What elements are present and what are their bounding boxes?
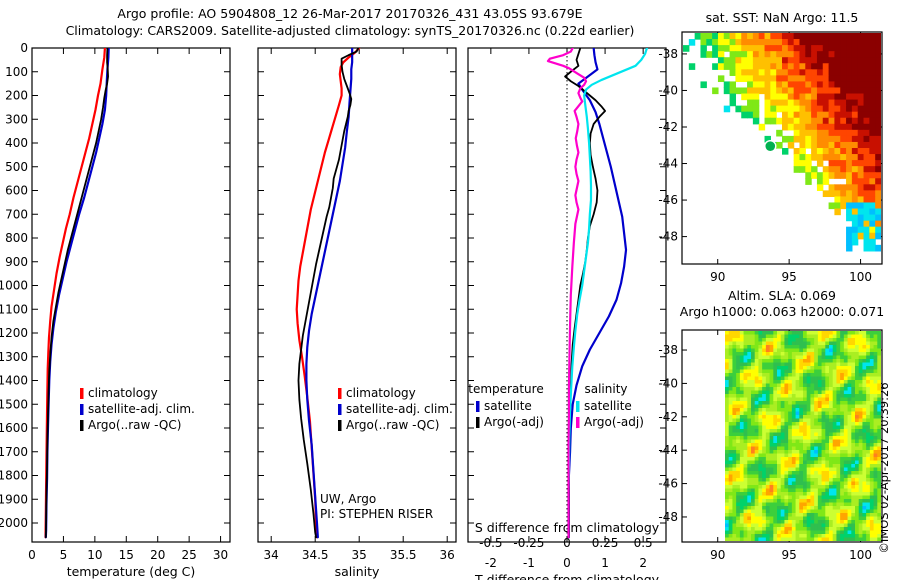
salinity-profile-series: [298, 48, 358, 537]
sla-cell: [836, 373, 840, 377]
sla-cell: [762, 506, 766, 510]
sla-cell: [859, 475, 863, 479]
sla-cell: [829, 349, 833, 353]
sla-cell: [877, 370, 881, 374]
sla-cell: [781, 433, 785, 437]
sla-cell: [799, 468, 803, 472]
sst-cell: [840, 124, 846, 131]
sla-cell: [766, 436, 770, 440]
sla-cell: [848, 331, 852, 335]
sla-cell: [788, 531, 792, 535]
sla-cell: [751, 524, 755, 528]
sla-cell: [796, 475, 800, 479]
sla-cell: [848, 531, 852, 535]
sla-cell: [822, 492, 826, 496]
sla-cell: [773, 377, 777, 381]
sst-cell: [782, 81, 788, 88]
sla-cell: [822, 394, 826, 398]
sla-cell: [777, 464, 781, 468]
sla-cell: [729, 356, 733, 360]
sst-cell: [852, 184, 858, 191]
sla-cell: [766, 408, 770, 412]
sla-cell: [744, 475, 748, 479]
sla-cell: [777, 429, 781, 433]
sst-cell: [852, 209, 858, 216]
sla-cell: [814, 366, 818, 370]
sla-cell: [851, 391, 855, 395]
sla-cell: [870, 503, 874, 507]
sla-cell: [762, 534, 766, 538]
sla-cell: [859, 401, 863, 405]
sla-cell: [788, 464, 792, 468]
sla-cell: [784, 447, 788, 451]
sst-cell: [875, 39, 881, 46]
sla-cell: [732, 496, 736, 500]
sla-cell: [822, 380, 826, 384]
sla-cell: [766, 506, 770, 510]
sst-cell: [834, 69, 840, 76]
sla-cell: [844, 524, 848, 528]
sst-cell: [875, 130, 881, 137]
sla-cell: [781, 342, 785, 346]
sst-cell: [811, 94, 817, 101]
sla-cell: [736, 394, 740, 398]
xtick-label-34: 34: [264, 548, 279, 562]
sla-cell: [770, 513, 774, 517]
sst-cell: [864, 233, 870, 240]
sst-cell: [852, 215, 858, 222]
sla-cell: [736, 366, 740, 370]
sst-cell: [846, 148, 852, 155]
sla-cell: [814, 380, 818, 384]
sla-cell: [818, 454, 822, 458]
sst-cell: [869, 112, 875, 119]
sla-cell: [866, 468, 870, 472]
sla-cell: [877, 345, 881, 349]
sla-cell: [836, 377, 840, 381]
sla-cell: [848, 356, 852, 360]
sla-cell: [855, 401, 859, 405]
sla-cell: [784, 419, 788, 423]
sla-cell: [777, 485, 781, 489]
sst-cell: [864, 221, 870, 228]
sla-cell: [740, 433, 744, 437]
sla-cell: [755, 510, 759, 514]
sla-cell: [825, 461, 829, 465]
sla-cell: [862, 342, 866, 346]
sla-cell: [874, 457, 878, 461]
sla-cell: [781, 366, 785, 370]
sst-cell: [864, 75, 870, 82]
sla-cell: [766, 527, 770, 531]
sla-cell: [755, 503, 759, 507]
sla-cell: [725, 359, 729, 363]
sst-cell: [794, 112, 800, 119]
sla-cell: [729, 377, 733, 381]
sla-cell: [758, 527, 762, 531]
sla-cell: [859, 405, 863, 409]
sst-cell: [776, 118, 782, 125]
sla-cell: [829, 471, 833, 475]
sla-cell: [773, 489, 777, 493]
sla-cell: [836, 527, 840, 531]
map-xtick-100: 100: [849, 270, 872, 284]
sla-cell: [781, 513, 785, 517]
sla-cell: [770, 506, 774, 510]
sla-cell: [840, 412, 844, 416]
sst-cell: [805, 75, 811, 82]
sla-cell: [777, 415, 781, 419]
sst-cell: [846, 81, 852, 88]
sla-cell: [844, 482, 848, 486]
sst-cell: [765, 39, 771, 46]
sla-cell: [870, 359, 874, 363]
sst-cell: [846, 239, 852, 246]
sla-cell: [732, 433, 736, 437]
sst-cell: [875, 33, 881, 40]
sla-cell: [796, 401, 800, 405]
sla-cell: [859, 461, 863, 465]
sla-cell: [762, 398, 766, 402]
sla-cell: [725, 506, 729, 510]
sst-cell: [735, 106, 741, 113]
sla-cell: [829, 359, 833, 363]
sla-cell: [729, 503, 733, 507]
sla-cell: [877, 447, 881, 451]
temperature-profile-series: [46, 48, 109, 537]
sst-cell: [747, 75, 753, 82]
sla-cell: [740, 415, 744, 419]
sla-cell: [807, 527, 811, 531]
sla-cell: [773, 422, 777, 426]
sla-cell: [770, 468, 774, 472]
sla-cell: [747, 387, 751, 391]
sla-cell: [725, 499, 729, 503]
sla-cell: [803, 478, 807, 482]
sla-map-subtitle: Argo h1000: 0.063 h2000: 0.071: [680, 304, 884, 319]
sla-cell: [859, 338, 863, 342]
sla-cell: [758, 335, 762, 339]
sla-cell: [840, 485, 844, 489]
sst-cell: [864, 209, 870, 216]
sla-cell: [836, 447, 840, 451]
sla-cell: [755, 457, 759, 461]
sla-cell: [732, 482, 736, 486]
legend-swatch: [476, 401, 480, 412]
sla-cell: [770, 524, 774, 528]
sst-cell: [735, 57, 741, 64]
sla-cell: [807, 447, 811, 451]
sla-cell: [859, 503, 863, 507]
sla-cell: [870, 387, 874, 391]
sst-cell: [834, 63, 840, 70]
sst-cell: [858, 81, 864, 88]
sst-cell: [869, 124, 875, 131]
sla-cell: [814, 429, 818, 433]
sla-cell: [777, 457, 781, 461]
sla-cell: [829, 447, 833, 451]
sla-cell: [744, 384, 748, 388]
sla-cell: [877, 520, 881, 524]
sst-cell: [829, 118, 835, 125]
sla-cell: [818, 356, 822, 360]
sla-cell: [796, 415, 800, 419]
sst-cell: [776, 45, 782, 52]
sst-cell: [834, 94, 840, 101]
sst-cell: [805, 166, 811, 173]
map-ytick--46: -46: [658, 193, 678, 207]
sla-cell: [855, 391, 859, 395]
sla-cell: [781, 499, 785, 503]
sla-cell: [729, 506, 733, 510]
sla-cell: [803, 482, 807, 486]
sst-cell: [834, 57, 840, 64]
sla-cell: [848, 443, 852, 447]
sla-cell: [740, 538, 744, 542]
salinity-profile-series: [306, 48, 352, 537]
sst-cell: [794, 106, 800, 113]
sla-cell: [874, 352, 878, 356]
sla-cell: [836, 468, 840, 472]
sla-cell: [851, 405, 855, 409]
sla-cell: [851, 499, 855, 503]
sla-cell: [762, 338, 766, 342]
sla-cell: [870, 471, 874, 475]
sla-cell: [870, 478, 874, 482]
sst-cell: [770, 100, 776, 107]
sla-cell: [788, 359, 792, 363]
sla-cell: [792, 492, 796, 496]
sst-cell: [799, 130, 805, 137]
sla-cell: [874, 485, 878, 489]
sla-cell: [758, 342, 762, 346]
sla-cell: [725, 429, 729, 433]
sla-cell: [725, 440, 729, 444]
sst-cell: [834, 142, 840, 149]
ytick-label-1700: 1700: [0, 445, 28, 459]
sla-cell: [747, 440, 751, 444]
sla-cell: [814, 461, 818, 465]
sla-cell: [844, 450, 848, 454]
sla-cell: [836, 510, 840, 514]
sla-cell: [773, 478, 777, 482]
sla-cell: [874, 510, 878, 514]
sla-cell: [829, 524, 833, 528]
sla-cell: [822, 506, 826, 510]
sla-cell: [729, 527, 733, 531]
sla-cell: [736, 506, 740, 510]
sla-cell: [807, 440, 811, 444]
sla-cell: [773, 471, 777, 475]
sla-cell: [803, 471, 807, 475]
sla-cell: [744, 405, 748, 409]
sla-cell: [792, 447, 796, 451]
sla-cell: [755, 531, 759, 535]
sla-cell: [818, 359, 822, 363]
sla-cell: [732, 478, 736, 482]
sla-cell: [762, 492, 766, 496]
sla-cell: [818, 415, 822, 419]
sst-cell: [799, 33, 805, 40]
sla-cell: [829, 492, 833, 496]
sla-cell: [770, 475, 774, 479]
sst-cell: [864, 94, 870, 101]
sla-cell: [874, 531, 878, 535]
sla-cell: [862, 384, 866, 388]
sla-cell: [818, 520, 822, 524]
sla-cell: [773, 499, 777, 503]
sla-cell: [803, 380, 807, 384]
sla-cell: [807, 426, 811, 430]
sla-cell: [777, 384, 781, 388]
sla-cell: [836, 433, 840, 437]
sla-cell: [825, 464, 829, 468]
sst-cell: [741, 45, 747, 52]
sla-cell: [796, 387, 800, 391]
sla-cell: [799, 345, 803, 349]
sla-cell: [862, 352, 866, 356]
sla-cell: [840, 471, 844, 475]
sla-cell: [829, 517, 833, 521]
sla-cell: [840, 377, 844, 381]
sst-cell: [788, 142, 794, 149]
sla-cell: [866, 538, 870, 542]
sla-cell: [796, 457, 800, 461]
sla-cell: [855, 419, 859, 423]
sla-cell: [848, 370, 852, 374]
sla-cell: [744, 485, 748, 489]
sla-cell: [725, 426, 729, 430]
sla-cell: [877, 457, 881, 461]
sst-cell: [823, 33, 829, 40]
sla-cell: [799, 454, 803, 458]
sla-cell: [836, 485, 840, 489]
sla-cell: [877, 506, 881, 510]
sla-cell: [859, 384, 863, 388]
sla-cell: [729, 520, 733, 524]
sla-cell: [781, 534, 785, 538]
sla-cell: [855, 499, 859, 503]
sst-cell: [869, 160, 875, 167]
sla-cell: [870, 415, 874, 419]
sla-cell: [729, 415, 733, 419]
sla-cell: [844, 489, 848, 493]
sla-cell: [848, 454, 852, 458]
sst-cell: [799, 100, 805, 107]
sla-cell: [725, 478, 729, 482]
sla-cell: [773, 387, 777, 391]
sla-cell: [784, 380, 788, 384]
sla-cell: [781, 443, 785, 447]
sla-cell: [758, 436, 762, 440]
sla-cell: [799, 342, 803, 346]
sla-cell: [866, 401, 870, 405]
sla-cell: [751, 520, 755, 524]
sla-cell: [729, 471, 733, 475]
sst-cell: [782, 124, 788, 131]
sla-cell: [874, 377, 878, 381]
sla-cell: [870, 331, 874, 335]
sla-cell: [836, 471, 840, 475]
xtick-label-20: 20: [150, 548, 165, 562]
sla-cell: [747, 405, 751, 409]
sst-cell: [794, 39, 800, 46]
legend-label-1: satellite-adj. clim.: [346, 402, 453, 416]
sla-cell: [747, 366, 751, 370]
sla-cell: [796, 464, 800, 468]
sla-cell: [725, 377, 729, 381]
sla-cell: [755, 398, 759, 402]
sla-cell: [807, 496, 811, 500]
sla-cell: [732, 391, 736, 395]
sst-cell: [869, 100, 875, 107]
sst-cell: [805, 87, 811, 94]
sst-cell: [823, 148, 829, 155]
sst-cell: [864, 239, 870, 246]
sla-cell: [758, 412, 762, 416]
xtick-label-0: 0: [28, 548, 36, 562]
sla-cell: [810, 436, 814, 440]
sla-cell: [777, 538, 781, 542]
sla-cell: [762, 440, 766, 444]
sla-cell: [818, 419, 822, 423]
sla-cell: [818, 517, 822, 521]
sla-cell: [740, 342, 744, 346]
sla-cell: [736, 380, 740, 384]
sla-cell: [803, 503, 807, 507]
sla-cell: [732, 363, 736, 367]
sla-cell: [736, 517, 740, 521]
sla-cell: [807, 349, 811, 353]
sst-cell: [829, 130, 835, 137]
sla-cell: [729, 464, 733, 468]
sla-cell: [840, 401, 844, 405]
sla-cell: [740, 468, 744, 472]
sla-cell: [766, 503, 770, 507]
sla-cell: [836, 517, 840, 521]
sst-cell: [776, 69, 782, 76]
sla-cell: [751, 436, 755, 440]
sla-cell: [732, 520, 736, 524]
sla-cell: [848, 482, 852, 486]
sla-cell: [799, 387, 803, 391]
sla-cell: [829, 457, 833, 461]
sla-cell: [736, 513, 740, 517]
sla-cell: [758, 384, 762, 388]
sla-cell: [773, 447, 777, 451]
sla-cell: [792, 485, 796, 489]
sla-cell: [825, 443, 829, 447]
sla-cell: [766, 429, 770, 433]
sla-cell: [822, 408, 826, 412]
sla-cell: [855, 352, 859, 356]
sla-cell: [818, 447, 822, 451]
sla-cell: [803, 377, 807, 381]
sla-cell: [818, 485, 822, 489]
sla-cell: [851, 475, 855, 479]
sla-cell: [814, 349, 818, 353]
sla-cell: [866, 377, 870, 381]
sla-cell: [799, 471, 803, 475]
sla-cell: [829, 461, 833, 465]
sla-cell: [770, 436, 774, 440]
sst-cell: [864, 124, 870, 131]
sla-cell: [807, 370, 811, 374]
xtick-label-35.5: 35.5: [390, 548, 417, 562]
sla-cell: [833, 387, 837, 391]
sst-cell: [864, 184, 870, 191]
sla-cell: [773, 468, 777, 472]
